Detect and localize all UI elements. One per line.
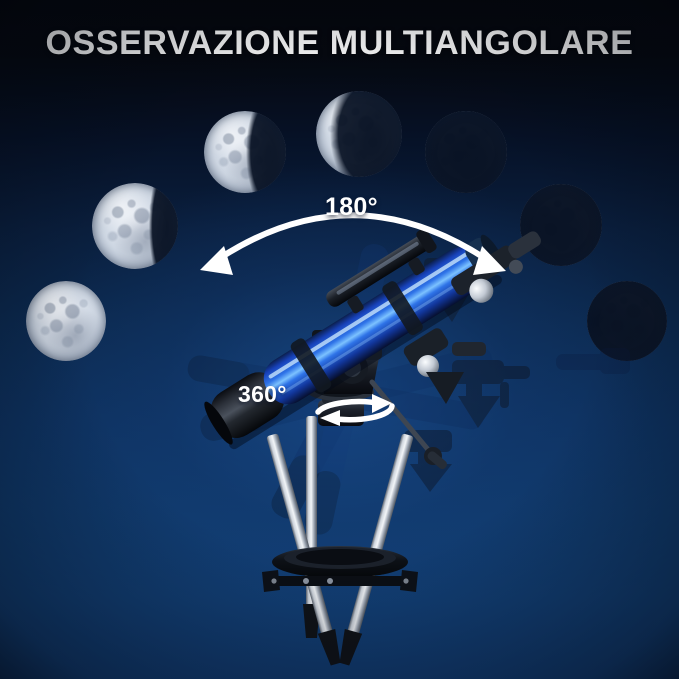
promo-image-canvas: 180° 360° OSSERVAZIONE MULTIANGOLARE <box>0 0 679 679</box>
background-vignette <box>0 0 679 679</box>
